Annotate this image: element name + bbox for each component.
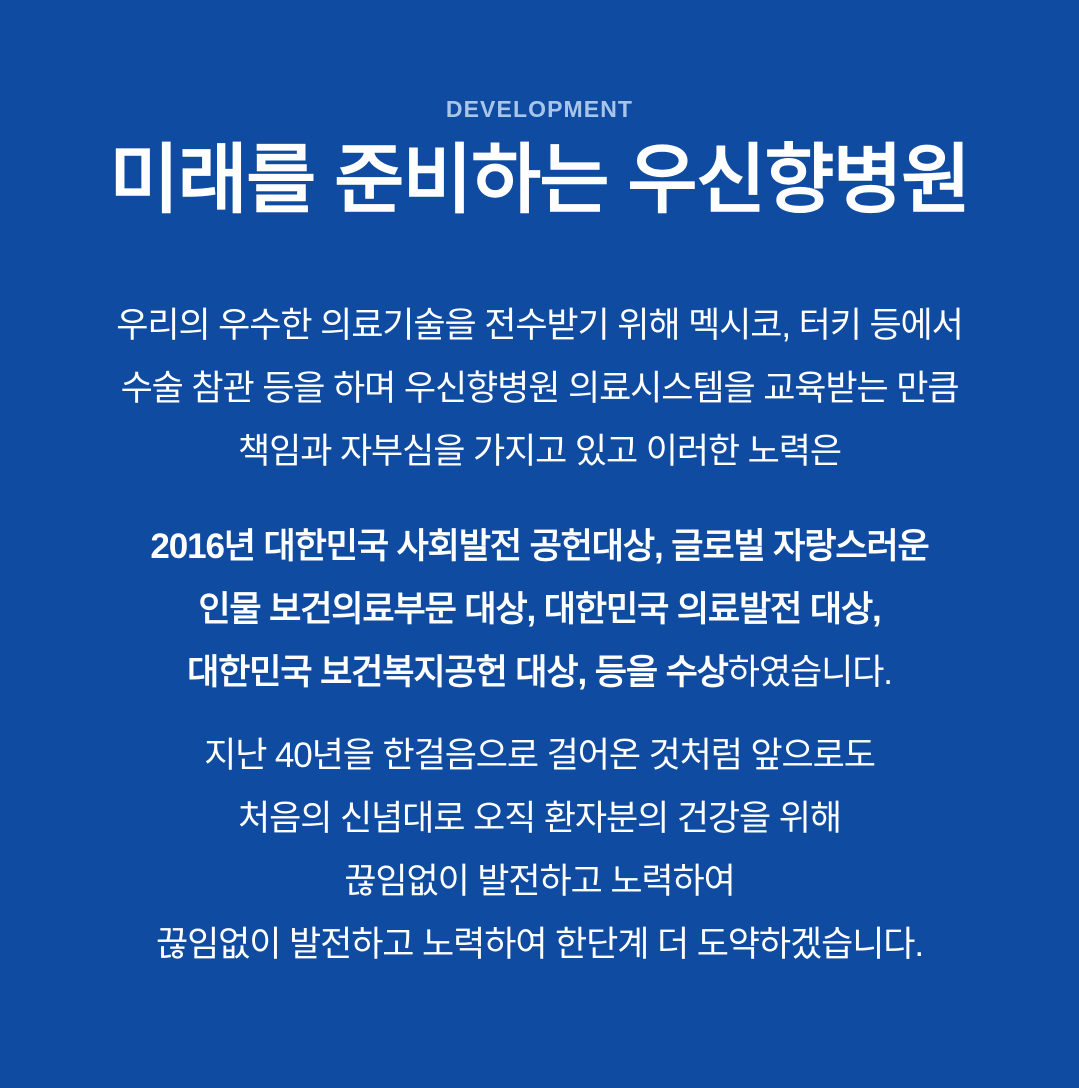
award-line: 인물 보건의료부문 대상, 대한민국 의료발전 대상, bbox=[0, 578, 1079, 641]
body-line: 지난 40년을 한걸음으로 걸어온 것처럼 앞으로도 bbox=[0, 724, 1079, 787]
section-eyebrow-label: DEVELOPMENT bbox=[446, 98, 633, 121]
development-promo-panel: DEVELOPMENT 미래를 준비하는 우신향병원 우리의 우수한 의료기술을… bbox=[0, 0, 1079, 1088]
body-line: 끊임없이 발전하고 노력하여 한단계 더 도약하겠습니다. bbox=[0, 913, 1079, 976]
body-line: 끊임없이 발전하고 노력하여 bbox=[0, 850, 1079, 913]
body-line: 수술 참관 등을 하며 우신향병원 의료시스템을 교육받는 만큼 bbox=[0, 357, 1079, 420]
award-line: 2016년 대한민국 사회발전 공헌대상, 글로벌 자랑스러운 bbox=[0, 515, 1079, 578]
page-title: 미래를 준비하는 우신향병원 bbox=[109, 141, 969, 222]
body-line: 처음의 신념대로 오직 환자분의 건강을 위해 bbox=[0, 787, 1079, 850]
body-paragraph: 우리의 우수한 의료기술을 전수받기 위해 멕시코, 터키 등에서 수술 참관 … bbox=[0, 294, 1079, 976]
award-line-normal-run: 하였습니다. bbox=[728, 653, 892, 692]
body-line: 책임과 자부심을 가지고 있고 이러한 노력은 bbox=[0, 420, 1079, 483]
award-line-strong-run: 대한민국 보건복지공헌 대상, 등을 수상 bbox=[187, 653, 728, 692]
body-line: 우리의 우수한 의료기술을 전수받기 위해 멕시코, 터키 등에서 bbox=[0, 294, 1079, 357]
award-line-mixed: 대한민국 보건복지공헌 대상, 등을 수상하였습니다. bbox=[0, 641, 1079, 704]
